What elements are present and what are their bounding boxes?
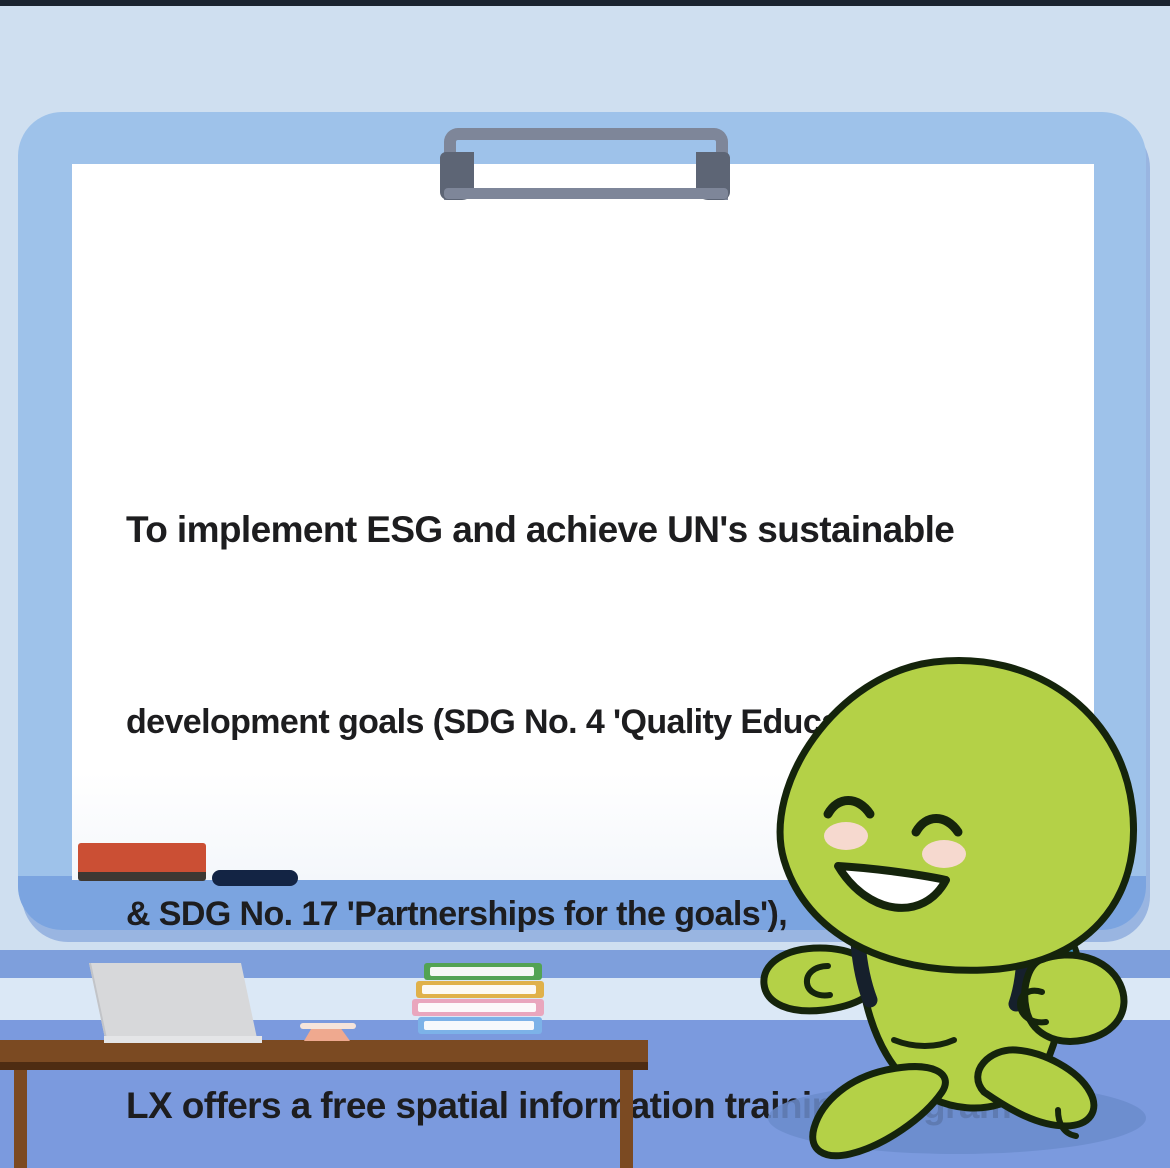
desk-edge	[0, 1062, 648, 1070]
laptop-base	[104, 1036, 262, 1043]
marker-icon	[212, 870, 298, 886]
book-green-pages	[430, 967, 534, 976]
whiteboard-clip-bar	[444, 188, 728, 199]
message-line-1: To implement ESG and achieve UN's sustai…	[126, 498, 1066, 562]
desk-leg-left	[14, 1070, 27, 1168]
pencil-case-top	[300, 1023, 356, 1029]
book-pink-pages	[418, 1003, 536, 1012]
book-pink	[412, 999, 544, 1016]
eraser-icon	[78, 843, 206, 875]
book-yellow-pages	[422, 985, 536, 994]
lx-mascot-icon	[728, 648, 1170, 1168]
laptop-icon	[89, 963, 258, 1043]
book-yellow	[416, 981, 544, 998]
desk-surface	[0, 1040, 648, 1062]
eraser-base	[78, 872, 206, 881]
top-edge-rule	[0, 0, 1170, 6]
desk-leg-right	[620, 1070, 633, 1168]
book-green	[424, 963, 542, 980]
book-blue-pages	[424, 1021, 534, 1030]
illustration-scene: To implement ESG and achieve UN's sustai…	[0, 0, 1170, 1168]
book-blue	[418, 1017, 542, 1034]
